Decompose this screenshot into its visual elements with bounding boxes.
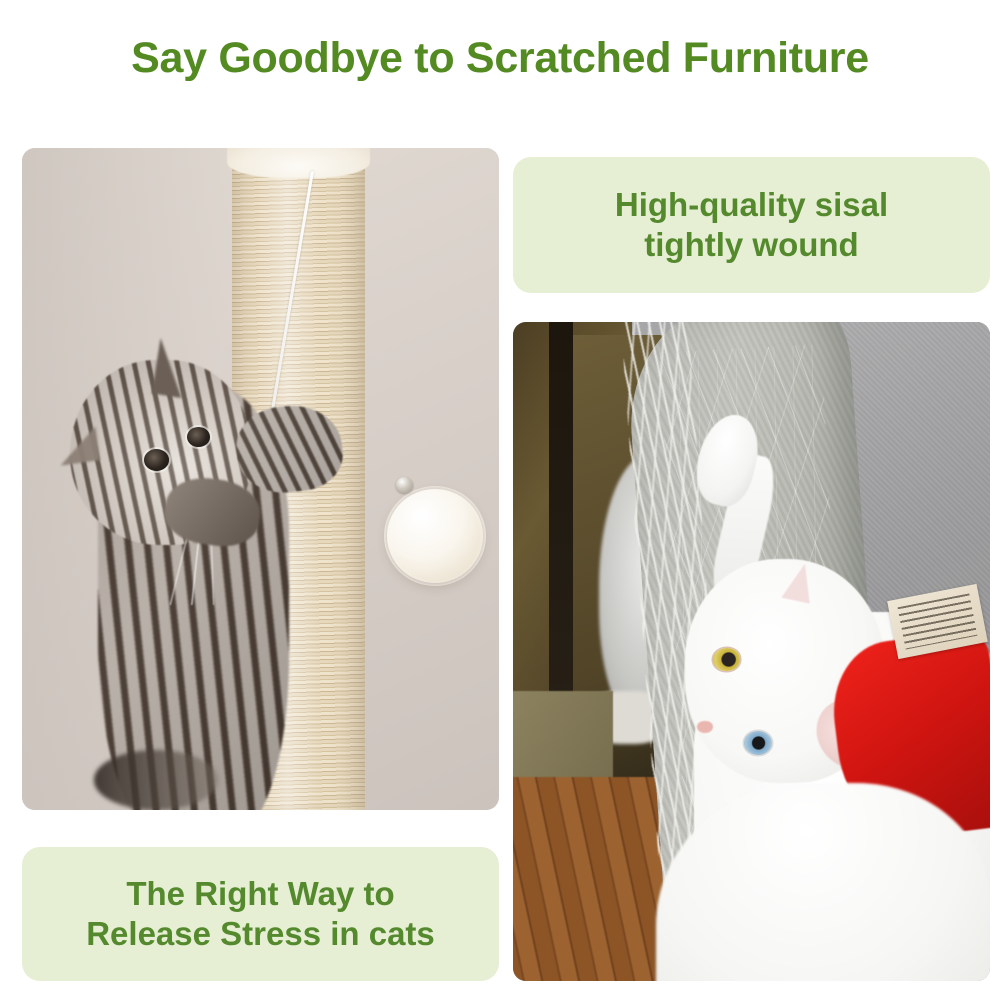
pompom-ball-toy <box>387 489 483 583</box>
caption-sisal-line-2: tightly wound <box>615 225 888 265</box>
caption-sisal-line-1: High-quality sisal <box>615 185 888 225</box>
kitten-eye-left <box>144 449 169 471</box>
caption-stress-line-1: The Right Way to <box>86 874 435 914</box>
white-cat-nose <box>697 721 713 733</box>
photo-white-cat-shredded-sofa <box>513 322 990 981</box>
product-infographic-page: Say Goodbye to Scratched Furniture High-… <box>0 0 1000 1000</box>
page-title: Say Goodbye to Scratched Furniture <box>0 34 1000 83</box>
white-cat-blue-eye <box>744 731 772 755</box>
kitten-eye-right <box>187 427 210 447</box>
post-plush-top <box>227 148 370 178</box>
kitten-left-ear <box>56 427 100 466</box>
photo-kitten-on-scratching-post <box>22 148 499 810</box>
caption-release-stress: The Right Way to Release Stress in cats <box>22 847 499 981</box>
kitten-tail <box>94 750 218 810</box>
caption-stress-line-2: Release Stress in cats <box>86 914 435 954</box>
caption-high-quality-sisal: High-quality sisal tightly wound <box>513 157 990 293</box>
